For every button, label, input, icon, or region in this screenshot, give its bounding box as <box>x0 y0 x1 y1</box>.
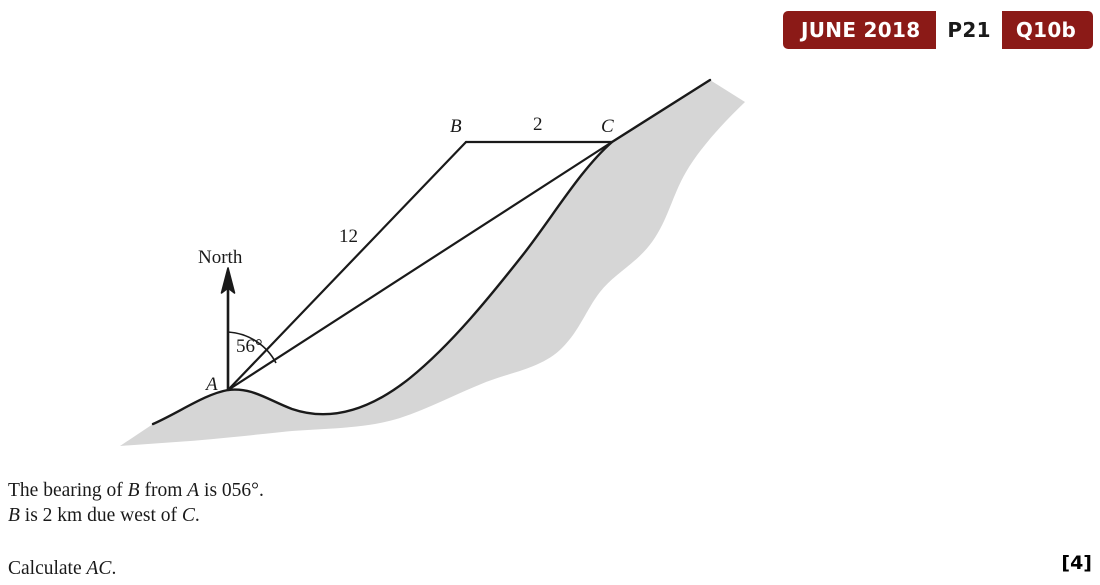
line1-mid: from <box>140 480 188 501</box>
exam-reference-badge: JUNE 2018 P21 Q10b <box>783 11 1093 49</box>
north-label: North <box>198 247 243 268</box>
side-ab-length-label: 12 <box>339 226 358 247</box>
point-b-label: B <box>450 116 462 137</box>
line2-mid: is 2 km due west of <box>20 505 182 526</box>
line3-pre: Calculate <box>8 558 87 579</box>
point-a-label: A <box>204 374 218 395</box>
segment-ab <box>228 142 466 390</box>
angle-label: 56° <box>236 336 263 357</box>
badge-paper-label: P21 <box>936 11 1001 49</box>
question-text-block: The bearing of B from A is 056°. B is 2 … <box>8 478 908 581</box>
line1-var-b: B <box>128 480 140 501</box>
side-bc-length-label: 2 <box>533 114 543 135</box>
badge-session-label: JUNE 2018 <box>783 11 936 49</box>
line2-var-c: C <box>182 505 195 526</box>
question-line-1: The bearing of B from A is 056°. <box>8 478 908 503</box>
line3-post: . <box>111 558 116 579</box>
line1-var-a: A <box>187 480 199 501</box>
marks-indicator: [4] <box>1061 552 1092 574</box>
line2-post: . <box>195 505 200 526</box>
line1-post: is 056°. <box>199 480 264 501</box>
line1-pre: The bearing of <box>8 480 128 501</box>
bearing-diagram: North 56° A B C 12 2 <box>0 60 780 450</box>
badge-question-label: Q10b <box>1002 11 1093 49</box>
line3-var-ac: AC <box>87 558 112 579</box>
question-line-2: B is 2 km due west of C. <box>8 503 908 528</box>
line2-var-b: B <box>8 505 20 526</box>
point-c-label: C <box>601 116 614 137</box>
question-line-3: Calculate AC. <box>8 556 908 581</box>
